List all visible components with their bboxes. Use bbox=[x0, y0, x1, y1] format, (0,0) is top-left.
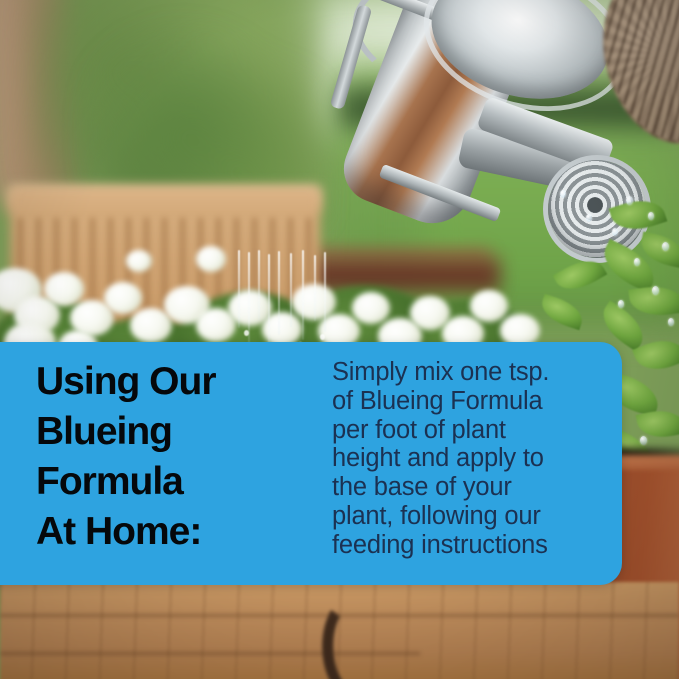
body-line-3: per foot of plant bbox=[332, 416, 594, 445]
headline-line-4: At Home: bbox=[36, 507, 306, 557]
headline-line-1: Using Our bbox=[36, 357, 306, 407]
blue-callout-panel: Using Our Blueing Formula At Home: Simpl… bbox=[0, 342, 622, 585]
advertisement-image: Using Our Blueing Formula At Home: Simpl… bbox=[0, 0, 679, 679]
body-line-2: of Blueing Formula bbox=[332, 387, 594, 416]
callout-headline: Using Our Blueing Formula At Home: bbox=[36, 357, 306, 557]
body-line-6: plant, following our bbox=[332, 502, 594, 531]
headline-line-3: Formula bbox=[36, 457, 306, 507]
body-line-5: the base of your bbox=[332, 473, 594, 502]
watering-can-handle-arm bbox=[330, 4, 373, 110]
callout-body-text: Simply mix one tsp. of Blueing Formula p… bbox=[332, 358, 594, 560]
body-line-4: height and apply to bbox=[332, 444, 594, 473]
headline-line-2: Blueing bbox=[36, 407, 306, 457]
body-line-7: feeding instructions bbox=[332, 531, 594, 560]
body-line-1: Simply mix one tsp. bbox=[332, 358, 594, 387]
